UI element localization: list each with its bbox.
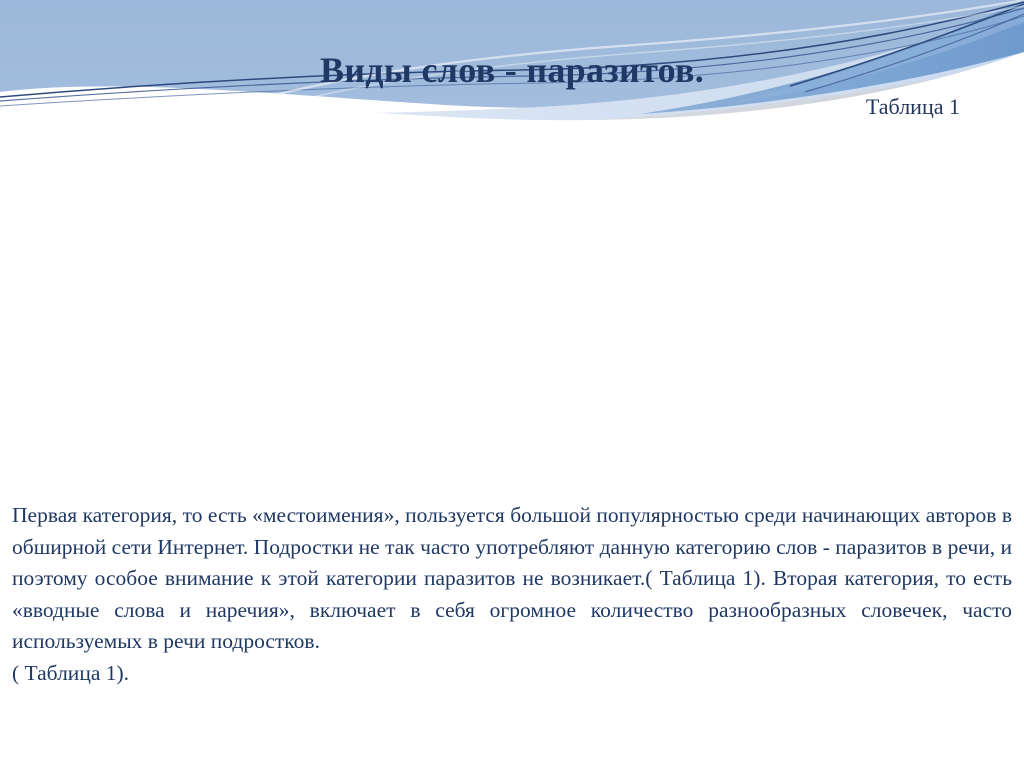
paragraph-first-category: Первая категория, то есть «местоимения»,… bbox=[12, 500, 1012, 689]
paragraph-tail-reference: ( Таблица 1). bbox=[12, 658, 1012, 690]
paragraph-text: Первая категория, то есть «местоимения»,… bbox=[12, 503, 1012, 653]
table-caption: Таблица 1 bbox=[866, 95, 960, 119]
title-block: Виды слов - паразитов. bbox=[0, 52, 1024, 90]
body-content: Первая категория, то есть «местоимения»,… bbox=[12, 500, 1012, 689]
slide-canvas: Виды слов - паразитов. Таблица 1 Первая … bbox=[0, 0, 1024, 767]
page-title: Виды слов - паразитов. bbox=[320, 52, 704, 90]
